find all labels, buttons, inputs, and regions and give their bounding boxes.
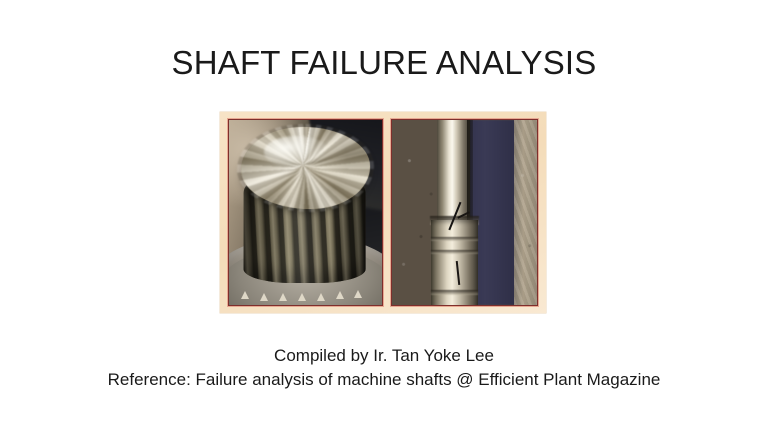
gear-tooth-tip-highlights — [232, 261, 379, 302]
gear-photo-content — [229, 120, 382, 305]
cracked-stepped-shaft-photo — [391, 119, 538, 306]
presentation-slide: SHAFT FAILURE ANALYSIS — [0, 0, 768, 432]
page-title: SHAFT FAILURE ANALYSIS — [0, 44, 768, 82]
figure-frame — [220, 112, 546, 313]
shaft-photo-content — [392, 120, 537, 305]
tooth-tip — [260, 293, 268, 301]
fracture-highlight — [264, 136, 328, 169]
shaft-machined-band — [431, 290, 477, 294]
shaft-machined-band — [431, 250, 477, 254]
tooth-tip — [241, 291, 249, 299]
caption-reference: Reference: Failure analysis of machine s… — [0, 368, 768, 392]
tooth-tip — [317, 293, 325, 301]
caption-compiled-by: Compiled by Ir. Tan Yoke Lee — [0, 344, 768, 368]
shaft-upper-section — [437, 120, 470, 220]
shaft-machined-band — [431, 237, 477, 241]
fractured-helical-gear-photo — [228, 119, 383, 306]
tooth-tip — [279, 293, 287, 301]
tooth-tip — [298, 293, 306, 301]
shaft-upper-shadow-line — [467, 120, 473, 220]
tooth-tip — [354, 290, 362, 298]
slide-caption: Compiled by Ir. Tan Yoke Lee Reference: … — [0, 344, 768, 392]
tooth-tip — [336, 291, 344, 299]
gear-fracture-surface — [241, 127, 370, 208]
